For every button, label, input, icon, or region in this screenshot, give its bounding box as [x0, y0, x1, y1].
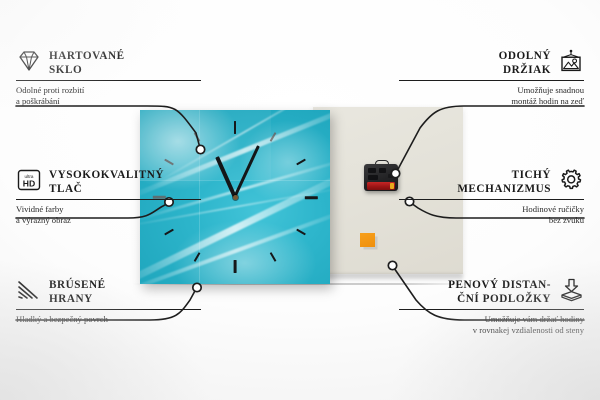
feature-header: TICHÝ MECHANIZMUS	[399, 168, 584, 196]
gear-icon	[558, 168, 584, 192]
feature-divider	[399, 199, 584, 200]
feature-subtitle: Hodinové ručičky bez zvuku	[399, 204, 584, 227]
feature-divider	[399, 309, 584, 310]
feature-title: VYSOKOKVALITNÝ TLAČ	[49, 168, 164, 196]
feature-tempered-glass: HARTOVANÉ SKLO Odolné proti rozbití a po…	[16, 49, 201, 108]
feature-header: ultra HD VYSOKOKVALITNÝ TLAČ	[16, 168, 201, 196]
feature-hd-print: ultra HD VYSOKOKVALITNÝ TLAČ Vividné far…	[16, 168, 201, 227]
picture-frame-icon	[558, 49, 584, 73]
feature-subtitle: Odolné proti rozbití a poškrábání	[16, 85, 201, 108]
feature-divider	[16, 80, 201, 81]
svg-text:HD: HD	[23, 178, 35, 188]
feature-polished-edges: BRÚSENÉ HRANY Hladký a bezpečný povrch	[16, 278, 201, 325]
feature-title: ODOLNÝ DRŽIAK	[499, 49, 551, 77]
feature-title: HARTOVANÉ SKLO	[49, 49, 125, 77]
feature-title: BRÚSENÉ HRANY	[49, 278, 106, 306]
feature-divider	[399, 80, 584, 81]
feature-silent-mechanism: TICHÝ MECHANIZMUS Hodinové ručičky bez z…	[399, 168, 584, 227]
feature-header: PENOVÝ DISTAN- ČNÍ PODLOŽKY	[399, 278, 584, 306]
ultra-hd-icon: ultra HD	[16, 168, 42, 192]
feature-subtitle: Vividné farby a výrazný obraz	[16, 204, 201, 227]
feature-header: BRÚSENÉ HRANY	[16, 278, 201, 306]
feature-divider	[16, 199, 201, 200]
feature-foam-spacers: PENOVÝ DISTAN- ČNÍ PODLOŽKY Umožňuje vám…	[399, 278, 584, 337]
hatched-triangle-icon	[16, 278, 42, 302]
feature-subtitle: Umožňuje vám držať hodiny v rovnakej vzd…	[399, 314, 584, 337]
feature-header: ODOLNÝ DRŽIAK	[399, 49, 584, 77]
feature-divider	[16, 309, 201, 310]
feature-subtitle: Umožňuje snadnou montáž hodin na zeď	[399, 85, 584, 108]
feature-title: PENOVÝ DISTAN- ČNÍ PODLOŽKY	[448, 278, 551, 306]
infographic-canvas: HARTOVANÉ SKLO Odolné proti rozbití a po…	[0, 0, 600, 400]
feature-durable-hanger: ODOLNÝ DRŽIAK Umožňuje snadnou montáž ho…	[399, 49, 584, 108]
diamond-icon	[16, 49, 42, 73]
press-down-stack-icon	[558, 278, 584, 302]
feature-subtitle: Hladký a bezpečný povrch	[16, 314, 201, 325]
feature-title: TICHÝ MECHANIZMUS	[457, 168, 551, 196]
feature-header: HARTOVANÉ SKLO	[16, 49, 201, 77]
